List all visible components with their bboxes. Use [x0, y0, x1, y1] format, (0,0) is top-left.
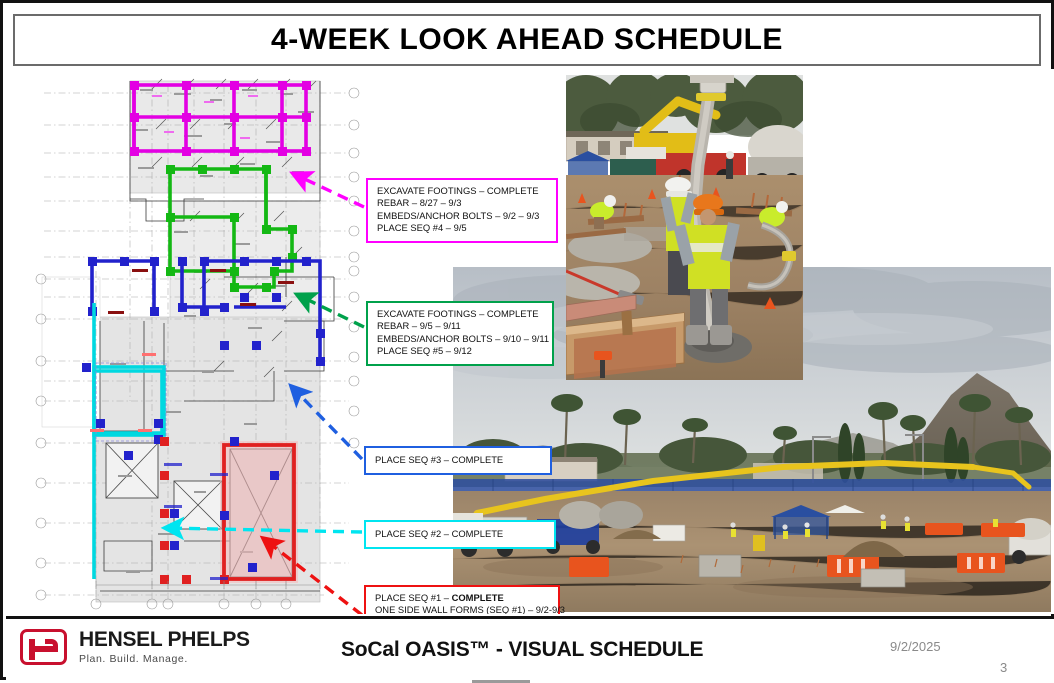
callout-seq3-line-1: PLACE SEQ #3 – COMPLETE [375, 454, 542, 466]
page-number: 3 [1000, 660, 1007, 675]
company-name: HENSEL PHELPS [79, 629, 250, 651]
callout-seq4[interactable]: EXCAVATE FOOTINGS – COMPLETE REBAR – 8/2… [366, 178, 558, 243]
callout-seq5[interactable]: EXCAVATE FOOTINGS – COMPLETE REBAR – 9/5… [366, 301, 554, 366]
callout-seq4-line-3: EMBEDS/ANCHOR BOLTS – 9/2 – 9/3 [377, 210, 548, 222]
callout-seq1[interactable]: PLACE SEQ #1 – COMPLETE ONE SIDE WALL FO… [364, 585, 560, 614]
presentation-slide: 4-WEEK LOOK AHEAD SCHEDULE [0, 0, 1054, 680]
hensel-phelps-logo: HENSEL PHELPS Plan. Build. Manage. [20, 629, 250, 665]
callout-seq4-line-2: REBAR – 8/27 – 9/3 [377, 197, 548, 209]
callout-seq1-line-1: PLACE SEQ #1 – COMPLETE [375, 592, 550, 604]
hp-monogram-icon [20, 629, 67, 665]
project-title: SoCal OASIS™ - VISUAL SCHEDULE [341, 638, 703, 662]
callout-seq3[interactable]: PLACE SEQ #3 – COMPLETE [364, 446, 552, 475]
slide-date: 9/2/2025 [890, 639, 941, 654]
concrete-pour-photo[interactable] [566, 75, 803, 380]
slide-footer: HENSEL PHELPS Plan. Build. Manage. SoCal… [6, 616, 1054, 680]
callout-seq5-line-3: EMBEDS/ANCHOR BOLTS – 9/10 – 9/11 [377, 333, 544, 345]
company-tagline: Plan. Build. Manage. [79, 653, 250, 665]
slide-content-area: EXCAVATE FOOTINGS – COMPLETE REBAR – 8/2… [6, 69, 1054, 614]
callout-seq4-line-4: PLACE SEQ #4 – 9/5 [377, 222, 548, 234]
slide-title-box: 4-WEEK LOOK AHEAD SCHEDULE [13, 14, 1041, 66]
callout-seq5-line-1: EXCAVATE FOOTINGS – COMPLETE [377, 308, 544, 320]
foundation-floor-plan[interactable] [34, 71, 374, 611]
callout-seq4-line-1: EXCAVATE FOOTINGS – COMPLETE [377, 185, 548, 197]
callout-seq2[interactable]: PLACE SEQ #2 – COMPLETE [364, 520, 556, 549]
page-title: 4-WEEK LOOK AHEAD SCHEDULE [271, 23, 783, 57]
callout-seq5-line-2: REBAR – 9/5 – 9/11 [377, 320, 544, 332]
callout-seq5-line-4: PLACE SEQ #5 – 9/12 [377, 345, 544, 357]
callout-seq2-line-1: PLACE SEQ #2 – COMPLETE [375, 528, 546, 540]
callout-seq1-line-2: ONE SIDE WALL FORMS (SEQ #1) – 9/2-9/3 [375, 604, 550, 614]
